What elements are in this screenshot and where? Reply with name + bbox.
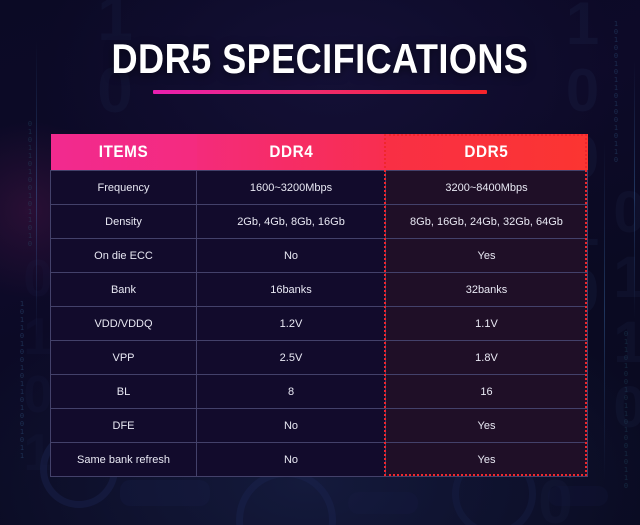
table-header-row: ITEMS DDR4 DDR5 bbox=[51, 134, 588, 171]
circuit-ring bbox=[236, 470, 336, 525]
cell-item: On die ECC bbox=[51, 239, 197, 273]
cell-ddr4: 2.5V bbox=[197, 341, 386, 375]
column-header-ddr4: DDR4 bbox=[197, 134, 386, 171]
table-row: Same bank refresh No Yes bbox=[51, 443, 588, 477]
spec-table: ITEMS DDR4 DDR5 Frequency 1600~3200Mbps … bbox=[50, 134, 588, 477]
spec-table-container: ITEMS DDR4 DDR5 Frequency 1600~3200Mbps … bbox=[50, 134, 587, 477]
table-row: Bank 16banks 32banks bbox=[51, 273, 588, 307]
cell-ddr4: 1600~3200Mbps bbox=[197, 171, 386, 205]
table-row: Density 2Gb, 4Gb, 8Gb, 16Gb 8Gb, 16Gb, 2… bbox=[51, 205, 588, 239]
cell-ddr4: 16banks bbox=[197, 273, 386, 307]
binary-strip: 01101001011010010110 bbox=[622, 330, 629, 510]
title-underline bbox=[153, 90, 487, 94]
circuit-line bbox=[634, 60, 635, 320]
cell-item: VPP bbox=[51, 341, 197, 375]
table-row: Frequency 1600~3200Mbps 3200~8400Mbps bbox=[51, 171, 588, 205]
cell-ddr5: 16 bbox=[386, 375, 588, 409]
cell-item: DFE bbox=[51, 409, 197, 443]
circuit-line bbox=[604, 140, 605, 480]
cell-ddr4: 1.2V bbox=[197, 307, 386, 341]
cell-ddr4: 2Gb, 4Gb, 8Gb, 16Gb bbox=[197, 205, 386, 239]
cell-ddr5: Yes bbox=[386, 443, 588, 477]
page-title: DDR5 SPECIFICATIONS bbox=[45, 36, 595, 82]
title-block: DDR5 SPECIFICATIONS bbox=[0, 36, 640, 94]
cell-ddr4: 8 bbox=[197, 375, 386, 409]
column-header-items: ITEMS bbox=[51, 134, 197, 171]
cell-ddr4: No bbox=[197, 409, 386, 443]
circuit-block bbox=[120, 480, 210, 506]
table-row: On die ECC No Yes bbox=[51, 239, 588, 273]
column-header-ddr5: DDR5 bbox=[386, 134, 588, 171]
table-row: DFE No Yes bbox=[51, 409, 588, 443]
cell-ddr5: 32banks bbox=[386, 273, 588, 307]
table-body: Frequency 1600~3200Mbps 3200~8400Mbps De… bbox=[51, 171, 588, 477]
cell-ddr5: 3200~8400Mbps bbox=[386, 171, 588, 205]
binary-digit-motif: 0110 bbox=[596, 180, 640, 440]
column-header-ddr4-label: DDR4 bbox=[269, 142, 313, 162]
table-row: VPP 2.5V 1.8V bbox=[51, 341, 588, 375]
cell-item: Bank bbox=[51, 273, 197, 307]
column-header-items-label: ITEMS bbox=[99, 142, 148, 162]
cell-item: VDD/VDDQ bbox=[51, 307, 197, 341]
circuit-block bbox=[548, 486, 608, 506]
cell-ddr5: Yes bbox=[386, 239, 588, 273]
column-header-ddr5-label: DDR5 bbox=[465, 142, 509, 162]
cell-ddr5: 8Gb, 16Gb, 24Gb, 32Gb, 64Gb bbox=[386, 205, 588, 239]
cell-item: BL bbox=[51, 375, 197, 409]
binary-strip: 0101101001011010 bbox=[26, 120, 33, 280]
table-row: VDD/VDDQ 1.2V 1.1V bbox=[51, 307, 588, 341]
cell-item: Frequency bbox=[51, 171, 197, 205]
cell-ddr4: No bbox=[197, 239, 386, 273]
cell-ddr5: 1.1V bbox=[386, 307, 588, 341]
cell-item: Density bbox=[51, 205, 197, 239]
cell-ddr5: 1.8V bbox=[386, 341, 588, 375]
table-row: BL 8 16 bbox=[51, 375, 588, 409]
cell-item: Same bank refresh bbox=[51, 443, 197, 477]
cell-ddr4: No bbox=[197, 443, 386, 477]
binary-strip: 10110100101101001011 bbox=[18, 300, 25, 510]
cell-ddr5: Yes bbox=[386, 409, 588, 443]
table-header: ITEMS DDR4 DDR5 bbox=[51, 134, 588, 171]
circuit-block bbox=[348, 492, 418, 514]
